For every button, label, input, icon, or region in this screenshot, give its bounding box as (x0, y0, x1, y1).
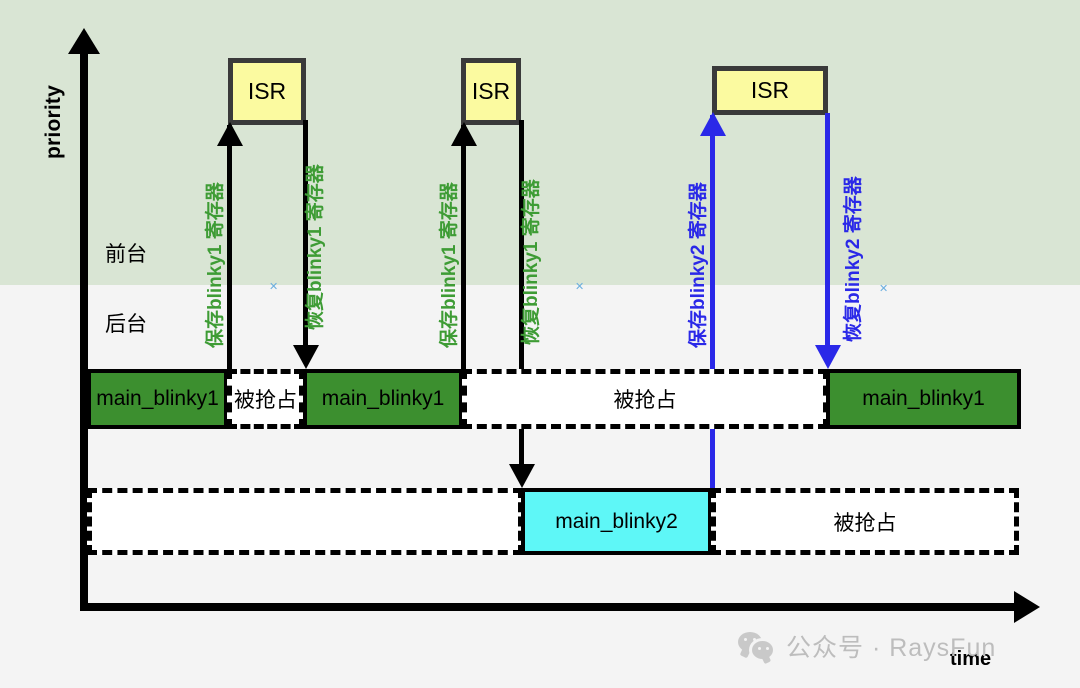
task1-segment-running-3[interactable]: main_blinky1 (826, 369, 1021, 429)
isr-box-1[interactable]: ISR (228, 58, 306, 125)
time-axis-line (80, 603, 1020, 611)
task2-segment-preempted-1-label: 被抢占 (834, 507, 897, 537)
task1-segment-preempted-2[interactable]: 被抢占 (462, 369, 828, 429)
wechat-icon (738, 632, 776, 660)
marker-x-3: ✕ (879, 284, 888, 295)
switch-label-restore-blinky1-c: 恢复blinky1 寄存器 (516, 179, 543, 345)
task1-segment-preempted-1[interactable]: 被抢占 (227, 369, 304, 429)
task2-segment-running-1[interactable]: main_blinky2 (521, 488, 712, 555)
region-label-foreground: 前台 (105, 238, 147, 268)
switch-arrow-restore-blinky1-a (293, 345, 319, 369)
switch-arrow-save-blinky1-a (217, 122, 243, 146)
task2-segment-idle[interactable] (87, 488, 523, 555)
task1-segment-running-1-label: main_blinky1 (96, 387, 219, 411)
switch-arrow-restore-blinky1-c (509, 464, 535, 488)
task1-segment-running-3-label: main_blinky1 (862, 387, 985, 411)
switch-line-restore-blinky2 (825, 113, 830, 346)
diagram-canvas: priority time 前台 后台 ISR 保存blinky1 寄存器 恢复… (0, 0, 1080, 688)
priority-axis-arrowhead (68, 28, 100, 54)
task1-segment-running-1[interactable]: main_blinky1 (87, 369, 228, 429)
switch-line-save-blinky2 (710, 115, 715, 488)
isr-box-3-label: ISR (751, 77, 789, 104)
marker-x-1: ✕ (269, 282, 278, 293)
priority-axis-label: priority (42, 62, 66, 182)
switch-label-save-blinky2: 保存blinky2 寄存器 (683, 182, 710, 348)
isr-box-2-label: ISR (472, 78, 510, 105)
marker-x-2: ✕ (575, 282, 584, 293)
isr-box-2[interactable]: ISR (461, 58, 521, 125)
task1-segment-running-2[interactable]: main_blinky1 (303, 369, 463, 429)
switch-line-save-blinky1-a (227, 125, 232, 371)
switch-arrow-save-blinky1-b (451, 122, 477, 146)
task1-segment-preempted-1-label: 被抢占 (234, 384, 297, 414)
watermark: 公众号 · RaysFun (738, 628, 996, 664)
time-axis-arrowhead (1014, 591, 1040, 623)
switch-label-save-blinky1-b: 保存blinky1 寄存器 (434, 182, 461, 348)
task2-segment-running-1-label: main_blinky2 (555, 510, 678, 534)
task1-segment-preempted-2-label: 被抢占 (614, 384, 677, 414)
task2-segment-preempted-1[interactable]: 被抢占 (711, 488, 1019, 555)
region-label-background: 后台 (105, 308, 147, 338)
switch-label-save-blinky1-a: 保存blinky1 寄存器 (200, 182, 227, 348)
watermark-text: 公众号 · RaysFun (786, 628, 996, 664)
isr-box-1-label: ISR (248, 78, 286, 105)
switch-arrow-save-blinky2 (700, 112, 726, 136)
task1-segment-running-2-label: main_blinky1 (322, 387, 445, 411)
switch-line-save-blinky1-b (461, 125, 466, 371)
isr-box-3[interactable]: ISR (712, 66, 828, 115)
switch-label-restore-blinky2: 恢复blinky2 寄存器 (838, 176, 865, 342)
switch-arrow-restore-blinky2 (815, 345, 841, 369)
switch-label-restore-blinky1-a: 恢复blinky1 寄存器 (300, 164, 327, 330)
